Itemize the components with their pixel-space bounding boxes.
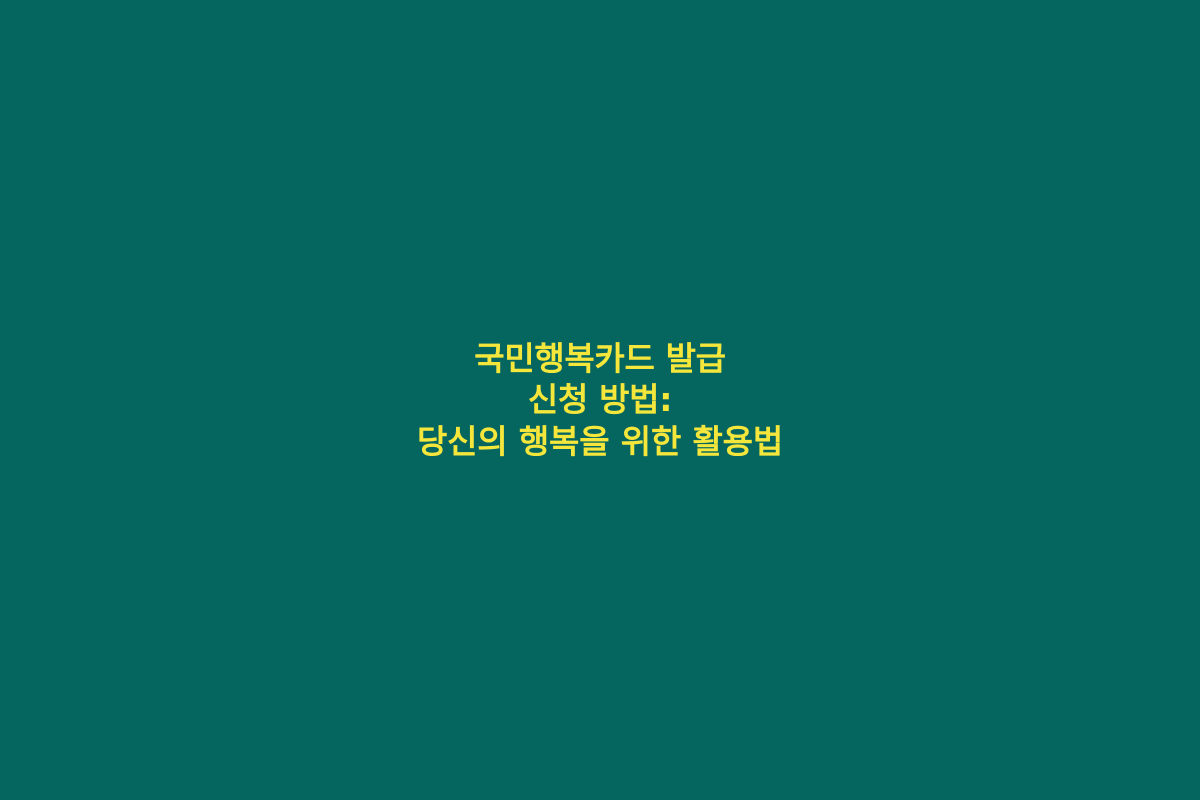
title-line-2: 신청 방법:	[8, 379, 1192, 421]
title-line-1: 국민행복카드 발급	[8, 338, 1192, 380]
banner-canvas: 국민행복카드 발급 신청 방법: 당신의 행복을 위한 활용법	[0, 0, 1200, 800]
title-line-3: 당신의 행복을 위한 활용법	[8, 421, 1192, 463]
page-title: 국민행복카드 발급 신청 방법: 당신의 행복을 위한 활용법	[0, 338, 1200, 463]
